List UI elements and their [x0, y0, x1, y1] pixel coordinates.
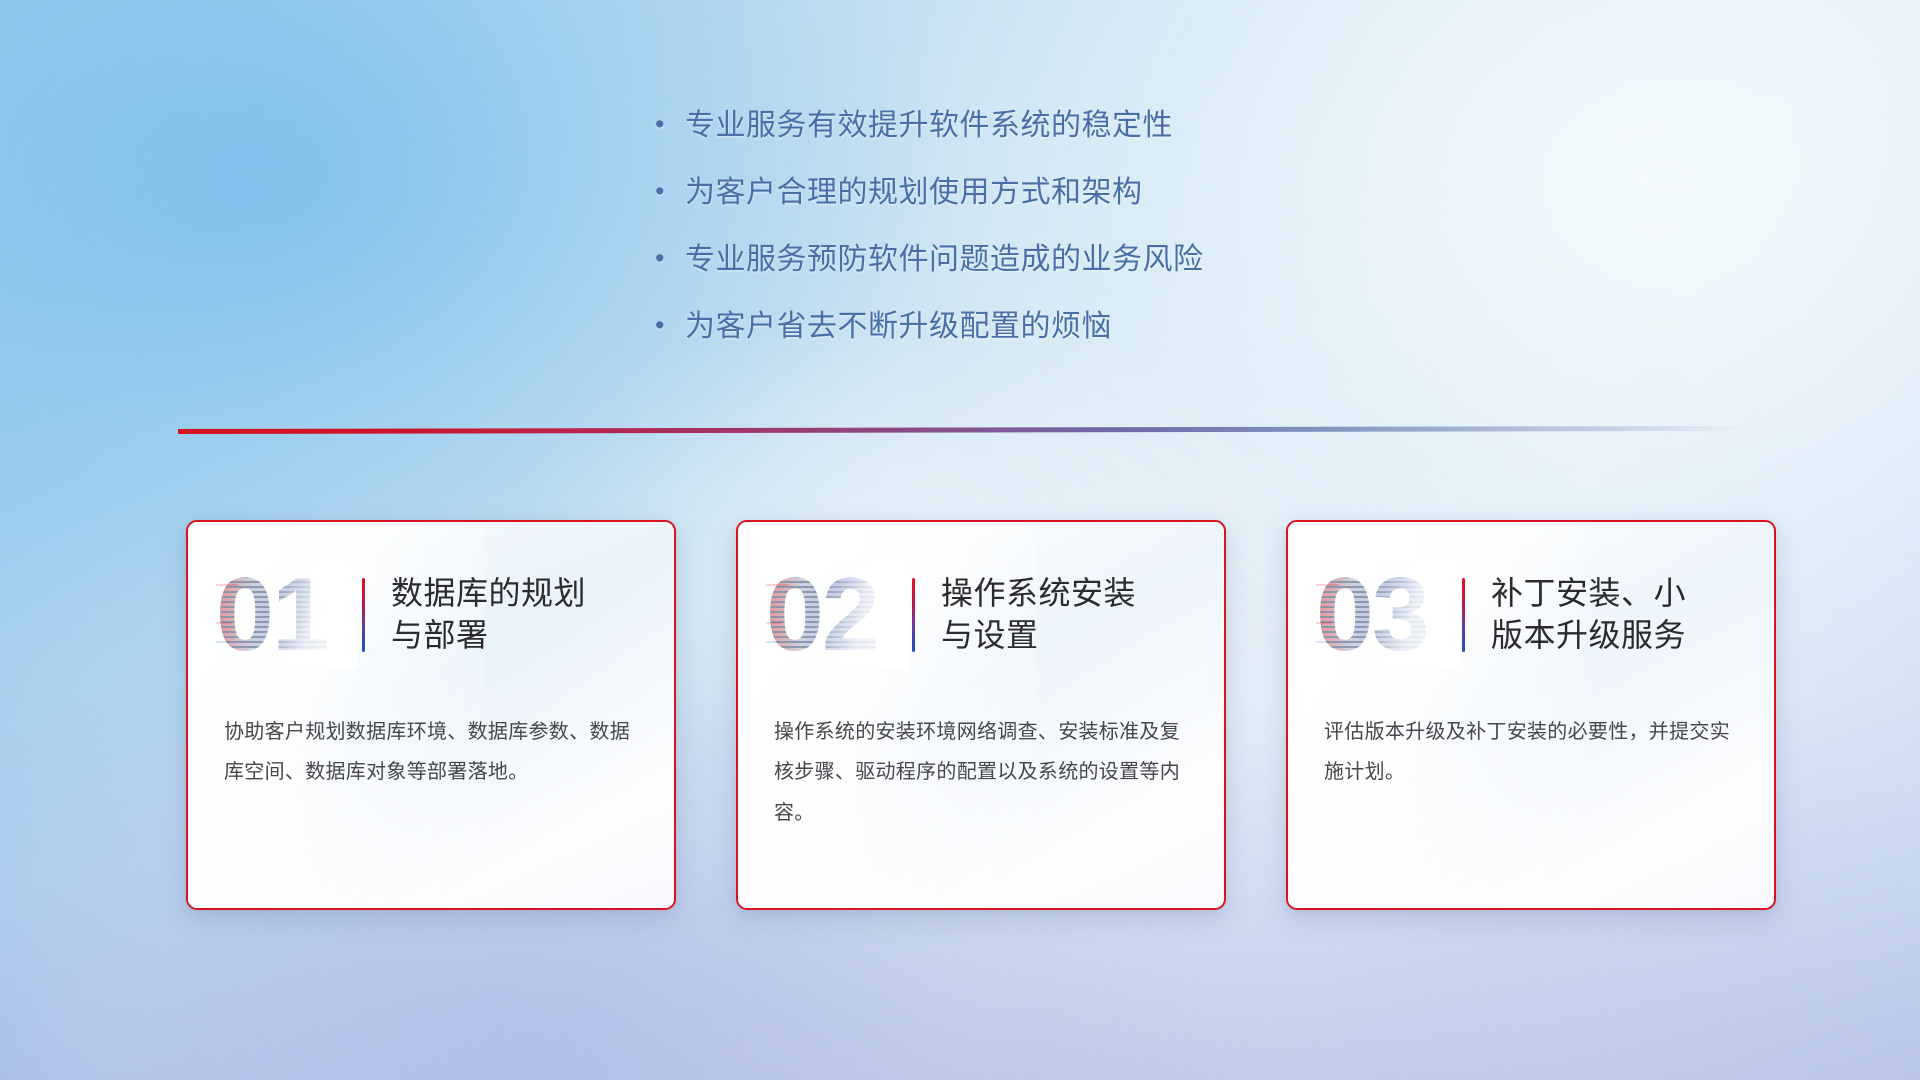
service-card[interactable]: 01 数据库的规划 与部署 协助客户规划数据库环境、数据库参数、数据库空间、数据… [186, 520, 676, 910]
card-title-line-2: 版本升级服务 [1491, 615, 1740, 657]
card-title: 操作系统安装 与设置 [941, 573, 1190, 656]
card-description: 操作系统的安装环境网络调查、安装标准及复核步骤、驱动程序的配置以及系统的设置等内… [738, 672, 1224, 833]
card-description: 协助客户规划数据库环境、数据库参数、数据库空间、数据库对象等部署落地。 [188, 672, 674, 793]
card-title: 数据库的规划 与部署 [391, 573, 640, 656]
card-number-badge: 03 [1316, 561, 1458, 669]
card-title: 补丁安装、小 版本升级服务 [1491, 573, 1740, 656]
card-header: 03 补丁安装、小 版本升级服务 [1288, 522, 1774, 672]
card-title-line-1: 补丁安装、小 [1491, 573, 1740, 615]
card-title-line-2: 与部署 [391, 615, 640, 657]
card-number: 01 [216, 561, 358, 669]
card-title-line-2: 与设置 [941, 615, 1190, 657]
card-number: 03 [1316, 561, 1458, 669]
card-title-divider [912, 578, 915, 652]
card-title-divider [362, 578, 365, 652]
card-title-line-1: 数据库的规划 [391, 573, 640, 615]
card-description: 评估版本升级及补丁安装的必要性，并提交实施计划。 [1288, 672, 1774, 793]
card-header: 02 操作系统安装 与设置 [738, 522, 1224, 672]
service-card-group: 01 数据库的规划 与部署 协助客户规划数据库环境、数据库参数、数据库空间、数据… [0, 0, 1920, 1080]
card-number-badge: 01 [216, 561, 358, 669]
service-card[interactable]: 03 补丁安装、小 版本升级服务 评估版本升级及补丁安装的必要性，并提交实施计划… [1286, 520, 1776, 910]
card-header: 01 数据库的规划 与部署 [188, 522, 674, 672]
card-number: 02 [766, 561, 908, 669]
card-title-line-1: 操作系统安装 [941, 573, 1190, 615]
service-card[interactable]: 02 操作系统安装 与设置 操作系统的安装环境网络调查、安装标准及复核步骤、驱动… [736, 520, 1226, 910]
card-number-badge: 02 [766, 561, 908, 669]
card-title-divider [1462, 578, 1465, 652]
